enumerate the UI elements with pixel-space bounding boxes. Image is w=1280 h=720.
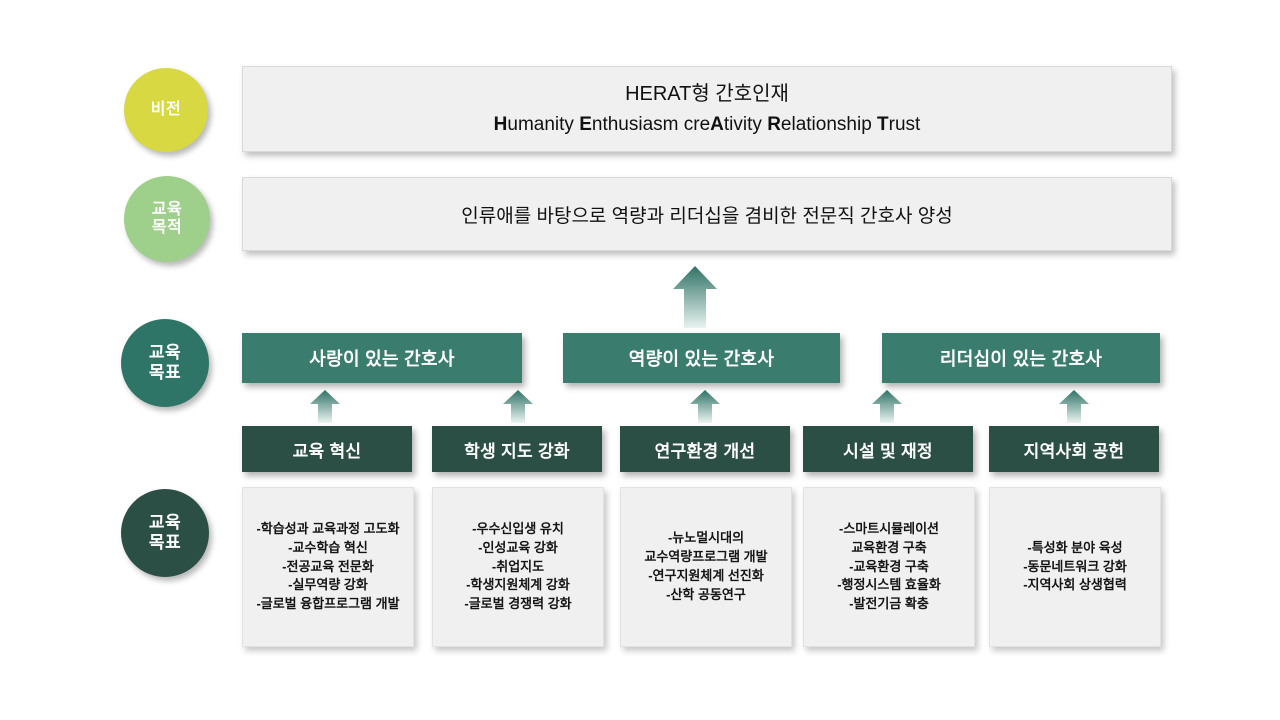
arrow-up-small-4-icon (872, 390, 902, 423)
list-item: -취업지도 (464, 558, 571, 577)
vision-word-enthusiasm: nthusiasm cre (592, 114, 710, 135)
badge-education-goal: 교육 목표 (121, 319, 209, 407)
strategy-detail-student-guidance-list: -우수신입생 유치 -인성교육 강화 -취업지도 -학생지원체계 강화 -글로벌… (460, 520, 575, 614)
badge-education-goal-label: 교육 목표 (149, 343, 181, 382)
list-item: -우수신입생 유치 (464, 520, 571, 539)
goal-box-leadership: 리더십이 있는 간호사 (882, 333, 1160, 383)
purpose-text: 인류애를 바탕으로 역량과 리더십을 겸비한 전문직 간호사 양성 (461, 201, 952, 228)
list-item: -산학 공동연구 (644, 586, 767, 605)
list-item: -발전기금 확충 (837, 595, 941, 614)
vision-word-relationship: elationship (781, 114, 877, 135)
strategy-header-research-environment: 연구환경 개선 (620, 426, 790, 472)
strategy-header-education-innovation: 교육 혁신 (242, 426, 412, 472)
badge-vision-label: 비전 (151, 101, 181, 119)
purpose-box: 인류애를 바탕으로 역량과 리더십을 겸비한 전문직 간호사 양성 (242, 177, 1172, 251)
badge-education-objective-label: 교육 목표 (149, 513, 181, 552)
strategy-detail-research-environment: -뉴노멀시대의 교수역량프로그램 개발 -연구지원체계 선진화 -산학 공동연구 (620, 487, 792, 647)
list-item: -교육환경 구축 (837, 558, 941, 577)
strategy-detail-education-innovation: -학습성과 교육과정 고도화 -교수학습 혁신 -전공교육 전문화 -실무역량 … (242, 487, 414, 647)
strategy-detail-student-guidance: -우수신입생 유치 -인성교육 강화 -취업지도 -학생지원체계 강화 -글로벌… (432, 487, 604, 647)
vision-word-trust: rust (889, 114, 921, 135)
vision-word-creativity: tivity (724, 114, 767, 135)
strategy-detail-research-environment-list: -뉴노멀시대의 교수역량프로그램 개발 -연구지원체계 선진화 -산학 공동연구 (640, 529, 771, 604)
list-item: -뉴노멀시대의 (644, 529, 767, 548)
list-item: -스마트시뮬레이션 (837, 520, 941, 539)
list-item: -행정시스템 효율화 (837, 576, 941, 595)
vision-initial-e: E (579, 114, 592, 135)
strategy-header-facility-finance-label: 시설 및 재정 (843, 437, 933, 462)
list-item: -글로벌 경쟁력 강화 (464, 595, 571, 614)
list-item: -실무역량 강화 (256, 576, 399, 595)
strategy-detail-facility-finance: -스마트시뮬레이션 교육환경 구축 -교육환경 구축 -행정시스템 효율화 -발… (803, 487, 975, 647)
strategy-header-student-guidance-label: 학생 지도 강화 (464, 437, 570, 462)
list-item: -학생지원체계 강화 (464, 576, 571, 595)
badge-vision: 비전 (124, 68, 208, 152)
vision-initial-h: H (494, 114, 508, 135)
vision-initial-r: R (767, 114, 781, 135)
goal-box-competency: 역량이 있는 간호사 (563, 333, 840, 383)
vision-word-humanity: umanity (507, 114, 579, 135)
arrow-up-large-icon (673, 266, 717, 328)
strategy-header-research-environment-label: 연구환경 개선 (655, 437, 756, 462)
goal-box-love: 사랑이 있는 간호사 (242, 333, 522, 383)
list-item: -인성교육 강화 (464, 539, 571, 558)
list-item: -전공교육 전문화 (256, 558, 399, 577)
strategy-header-community-contribution: 지역사회 공헌 (989, 426, 1159, 472)
badge-education-purpose: 교육 목적 (124, 176, 210, 262)
list-item: -연구지원체계 선진화 (644, 567, 767, 586)
strategy-header-student-guidance: 학생 지도 강화 (432, 426, 602, 472)
strategy-header-education-innovation-label: 교육 혁신 (293, 437, 362, 462)
list-item: -학습성과 교육과정 고도화 (256, 520, 399, 539)
strategy-header-community-contribution-label: 지역사회 공헌 (1024, 437, 1125, 462)
arrow-up-small-3-icon (690, 390, 720, 423)
vision-initial-a: A (710, 114, 724, 135)
vision-text: HERAT형 간호인재 Humanity Enthusiasm creAtivi… (494, 79, 921, 139)
diagram-canvas: 비전 교육 목적 교육 목표 교육 목표 HERAT형 간호인재 Humanit… (0, 0, 1280, 720)
strategy-detail-community-contribution-list: -특성화 분야 육성 -동문네트워크 강화 -지역사회 상생협력 (1019, 539, 1131, 596)
goal-box-love-label: 사랑이 있는 간호사 (309, 345, 454, 371)
badge-education-objective: 교육 목표 (121, 489, 209, 577)
goal-box-competency-label: 역량이 있는 간호사 (629, 345, 774, 371)
goal-box-leadership-label: 리더십이 있는 간호사 (940, 345, 1102, 371)
strategy-detail-facility-finance-list: -스마트시뮬레이션 교육환경 구축 -교육환경 구축 -행정시스템 효율화 -발… (833, 520, 945, 614)
strategy-detail-community-contribution: -특성화 분야 육성 -동문네트워크 강화 -지역사회 상생협력 (989, 487, 1161, 647)
vision-box: HERAT형 간호인재 Humanity Enthusiasm creAtivi… (242, 66, 1172, 152)
vision-line-2: Humanity Enthusiasm creAtivity Relations… (494, 110, 921, 139)
badge-education-purpose-label: 교육 목적 (152, 201, 182, 238)
vision-line-1: HERAT형 간호인재 (494, 79, 921, 110)
strategy-header-facility-finance: 시설 및 재정 (803, 426, 973, 472)
list-item: 교수역량프로그램 개발 (644, 548, 767, 567)
list-item: -지역사회 상생협력 (1023, 576, 1127, 595)
arrow-up-small-1-icon (310, 390, 340, 423)
vision-initial-t: T (877, 114, 889, 135)
list-item: -교수학습 혁신 (256, 539, 399, 558)
list-item: 교육환경 구축 (837, 539, 941, 558)
arrow-up-small-2-icon (503, 390, 533, 423)
list-item: -글로벌 융합프로그램 개발 (256, 595, 399, 614)
arrow-up-small-5-icon (1059, 390, 1089, 423)
list-item: -특성화 분야 육성 (1023, 539, 1127, 558)
strategy-detail-education-innovation-list: -학습성과 교육과정 고도화 -교수학습 혁신 -전공교육 전문화 -실무역량 … (252, 520, 403, 614)
list-item: -동문네트워크 강화 (1023, 558, 1127, 577)
